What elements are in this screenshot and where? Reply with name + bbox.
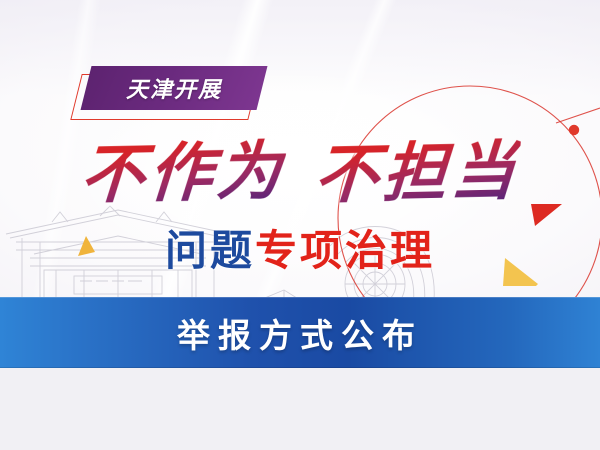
subheadline-red: 专项治理 <box>255 217 435 278</box>
bottom-banner: 举报方式公布 <box>0 297 600 368</box>
red-connector-line <box>556 108 600 123</box>
bottom-filler <box>0 368 600 450</box>
poster-artwork-panel: 天津开展 不作为 不担当 问题 专项治理 举报方式公布 <box>0 0 600 368</box>
badge-label: 天津开展 <box>86 66 262 110</box>
subheadline: 问题 专项治理 <box>0 216 600 278</box>
subheadline-blue: 问题 <box>165 217 255 278</box>
badge: 天津开展 <box>76 66 266 122</box>
red-node-dot-icon <box>569 125 579 135</box>
poster-image: 天津开展 不作为 不担当 问题 专项治理 举报方式公布 <box>0 0 600 450</box>
bottom-banner-label: 举报方式公布 <box>177 309 423 357</box>
